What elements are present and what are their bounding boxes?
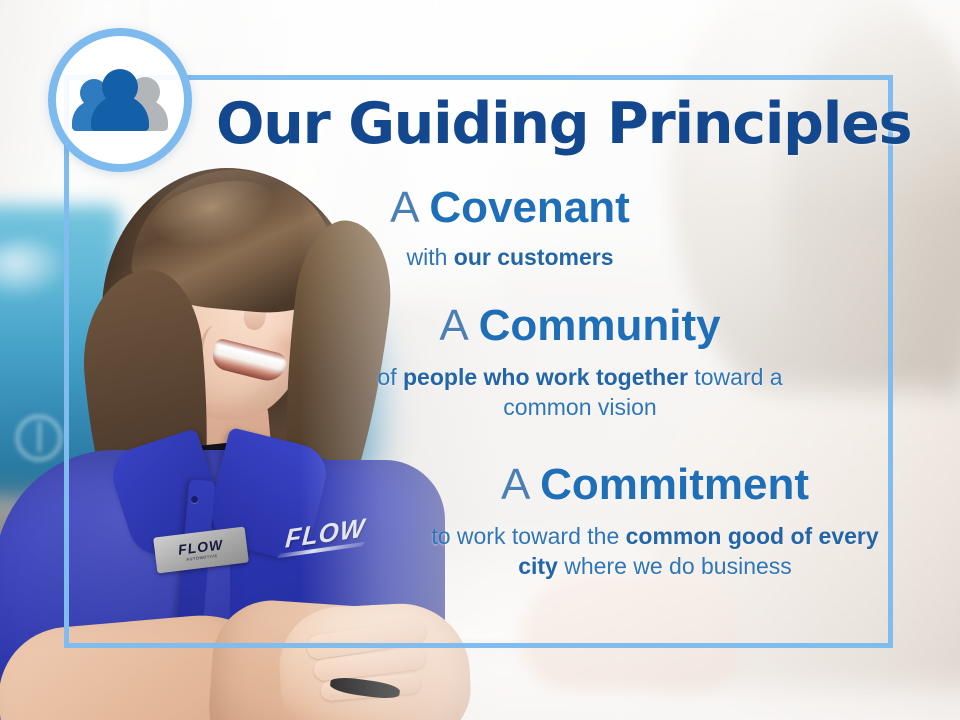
people-badge xyxy=(48,28,192,172)
principle-covenant: A Covenant with our customers xyxy=(300,185,720,273)
principle-commitment: A Commitment to work toward the common g… xyxy=(420,462,890,581)
principle-subtitle: to work toward the common good of every … xyxy=(420,522,890,581)
principle-heading: A Covenant xyxy=(300,185,720,231)
principle-subtitle: of people who work together toward a com… xyxy=(350,363,810,422)
banner-root: FLOW AUTOMOTIVE FLOW xyxy=(0,0,960,720)
principle-subtitle: with our customers xyxy=(300,243,720,272)
name-badge-subtext: AUTOMOTIVE xyxy=(186,554,218,562)
principle-heading: A Community xyxy=(350,303,810,349)
principle-heading: A Commitment xyxy=(420,462,890,508)
principle-community: A Community of people who work together … xyxy=(350,303,810,422)
customer-hand xyxy=(520,570,740,690)
people-group-icon xyxy=(72,69,168,131)
page-title: Our Guiding Principles xyxy=(216,96,911,153)
polo-button-top xyxy=(191,496,198,503)
